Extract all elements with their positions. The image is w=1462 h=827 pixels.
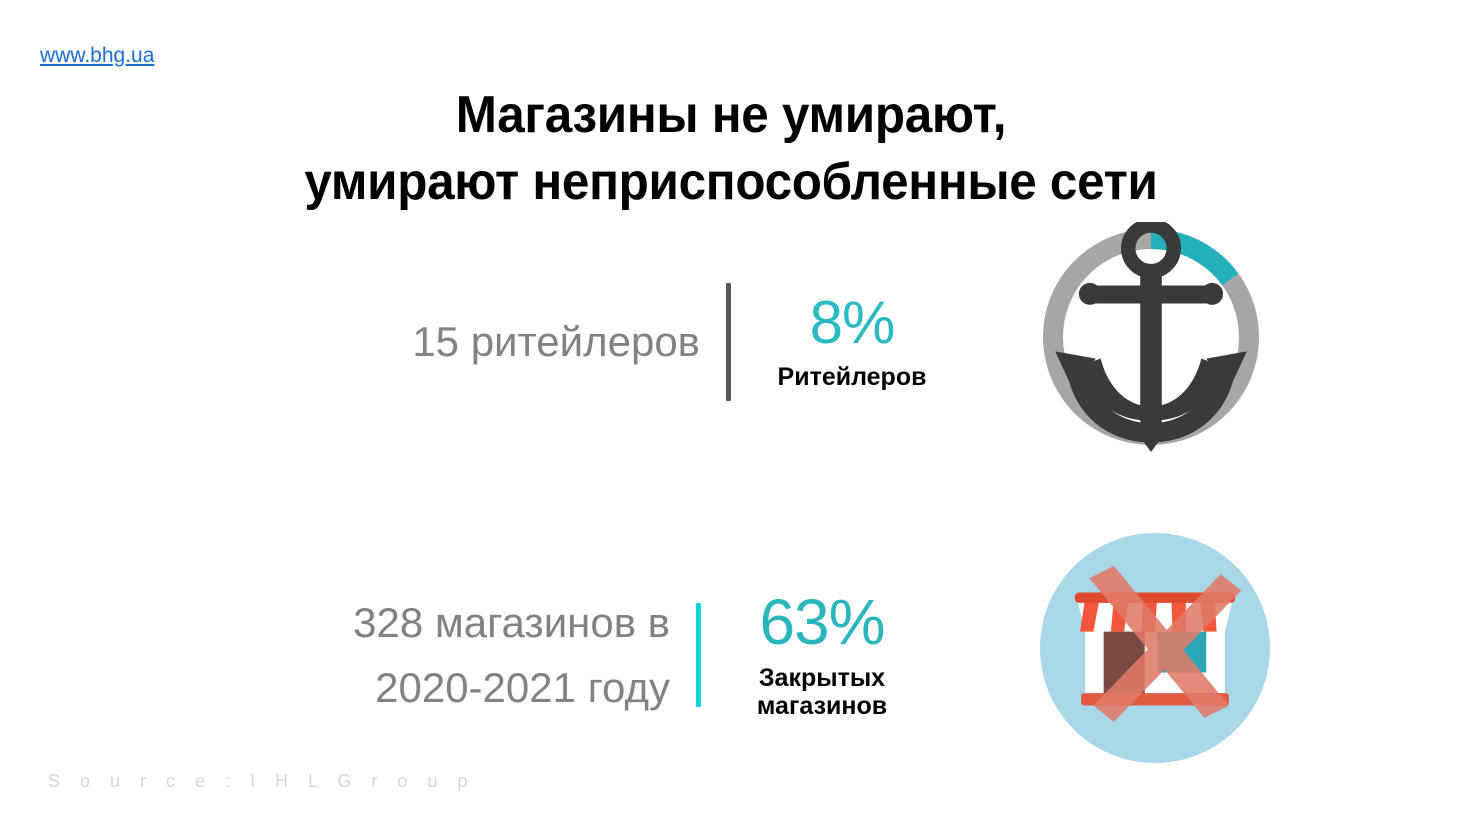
stat-percent-label-line-2: магазинов xyxy=(707,692,937,720)
stat-left-line-2: 2020-2021 году xyxy=(300,655,670,720)
stat-row-retailers: 15 ритейлеров 8% Ритейлеров xyxy=(330,222,967,462)
page-title-line-2: умирают неприспособленные сети xyxy=(37,149,1426,216)
stat-percent-closed-stores: 63% xyxy=(707,590,937,654)
donut-chart-retailers-svg xyxy=(1036,222,1266,452)
stat-left-label-retailers: 15 ритейлеров xyxy=(330,309,726,374)
stat-left-line-1: 328 магазинов в xyxy=(300,590,670,655)
stat-mid-closed-stores: 63% Закрытых магазинов xyxy=(701,590,937,720)
stat-percent-label-line-1: Закрытых xyxy=(707,664,937,692)
source-note: S o u r c e : I H L G r o u p xyxy=(48,771,475,792)
stat-left-label-closed-stores: 328 магазинов в 2020-2021 году xyxy=(300,590,696,720)
slide-root: www.bhg.ua Магазины не умирают, умирают … xyxy=(0,0,1462,827)
stat-left-line-1: 15 ритейлеров xyxy=(330,309,700,374)
stat-percent-label-closed-stores: Закрытых магазинов xyxy=(707,664,937,720)
donut-chart-closed-stores xyxy=(1040,533,1270,763)
stat-percent-label-retailers: Ритейлеров xyxy=(737,363,967,391)
stat-percent-retailers: 8% xyxy=(737,293,967,353)
stat-percent-label-line-1: Ритейлеров xyxy=(737,363,967,391)
donut-chart-closed-stores-svg xyxy=(1040,533,1270,763)
site-link[interactable]: www.bhg.ua xyxy=(40,44,154,68)
stat-mid-retailers: 8% Ритейлеров xyxy=(731,293,967,391)
page-title-line-1: Магазины не умирают, xyxy=(37,82,1426,149)
stat-row-closed-stores: 328 магазинов в 2020-2021 году 63% Закры… xyxy=(300,535,937,775)
donut-chart-retailers xyxy=(1036,222,1266,452)
page-title: Магазины не умирают, умирают неприспособ… xyxy=(37,82,1426,215)
